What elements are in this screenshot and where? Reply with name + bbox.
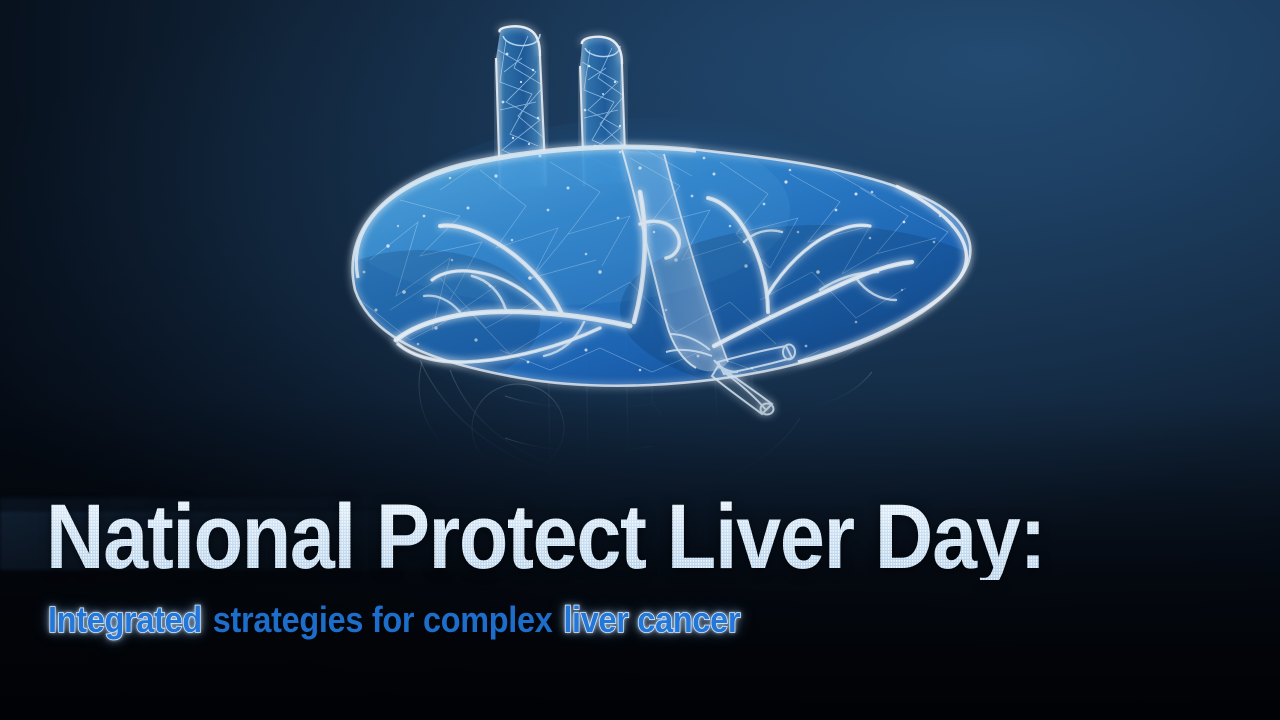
subtitle: Integratedstrategies for complexliver ca…: [48, 602, 740, 638]
subtitle-segment-integrated: Integrated: [48, 599, 202, 640]
banner-canvas: National Protect Liver Day: Integratedst…: [0, 0, 1280, 720]
page-title: National Protect Liver Day:: [46, 494, 1084, 580]
subtitle-segment-liver-cancer: liver cancer: [563, 599, 740, 640]
subtitle-segment-strategies: strategies for complex: [213, 599, 553, 640]
subheadline-block: Integratedstrategies for complexliver ca…: [48, 602, 817, 638]
headline-block: National Protect Liver Day:: [46, 494, 1226, 580]
